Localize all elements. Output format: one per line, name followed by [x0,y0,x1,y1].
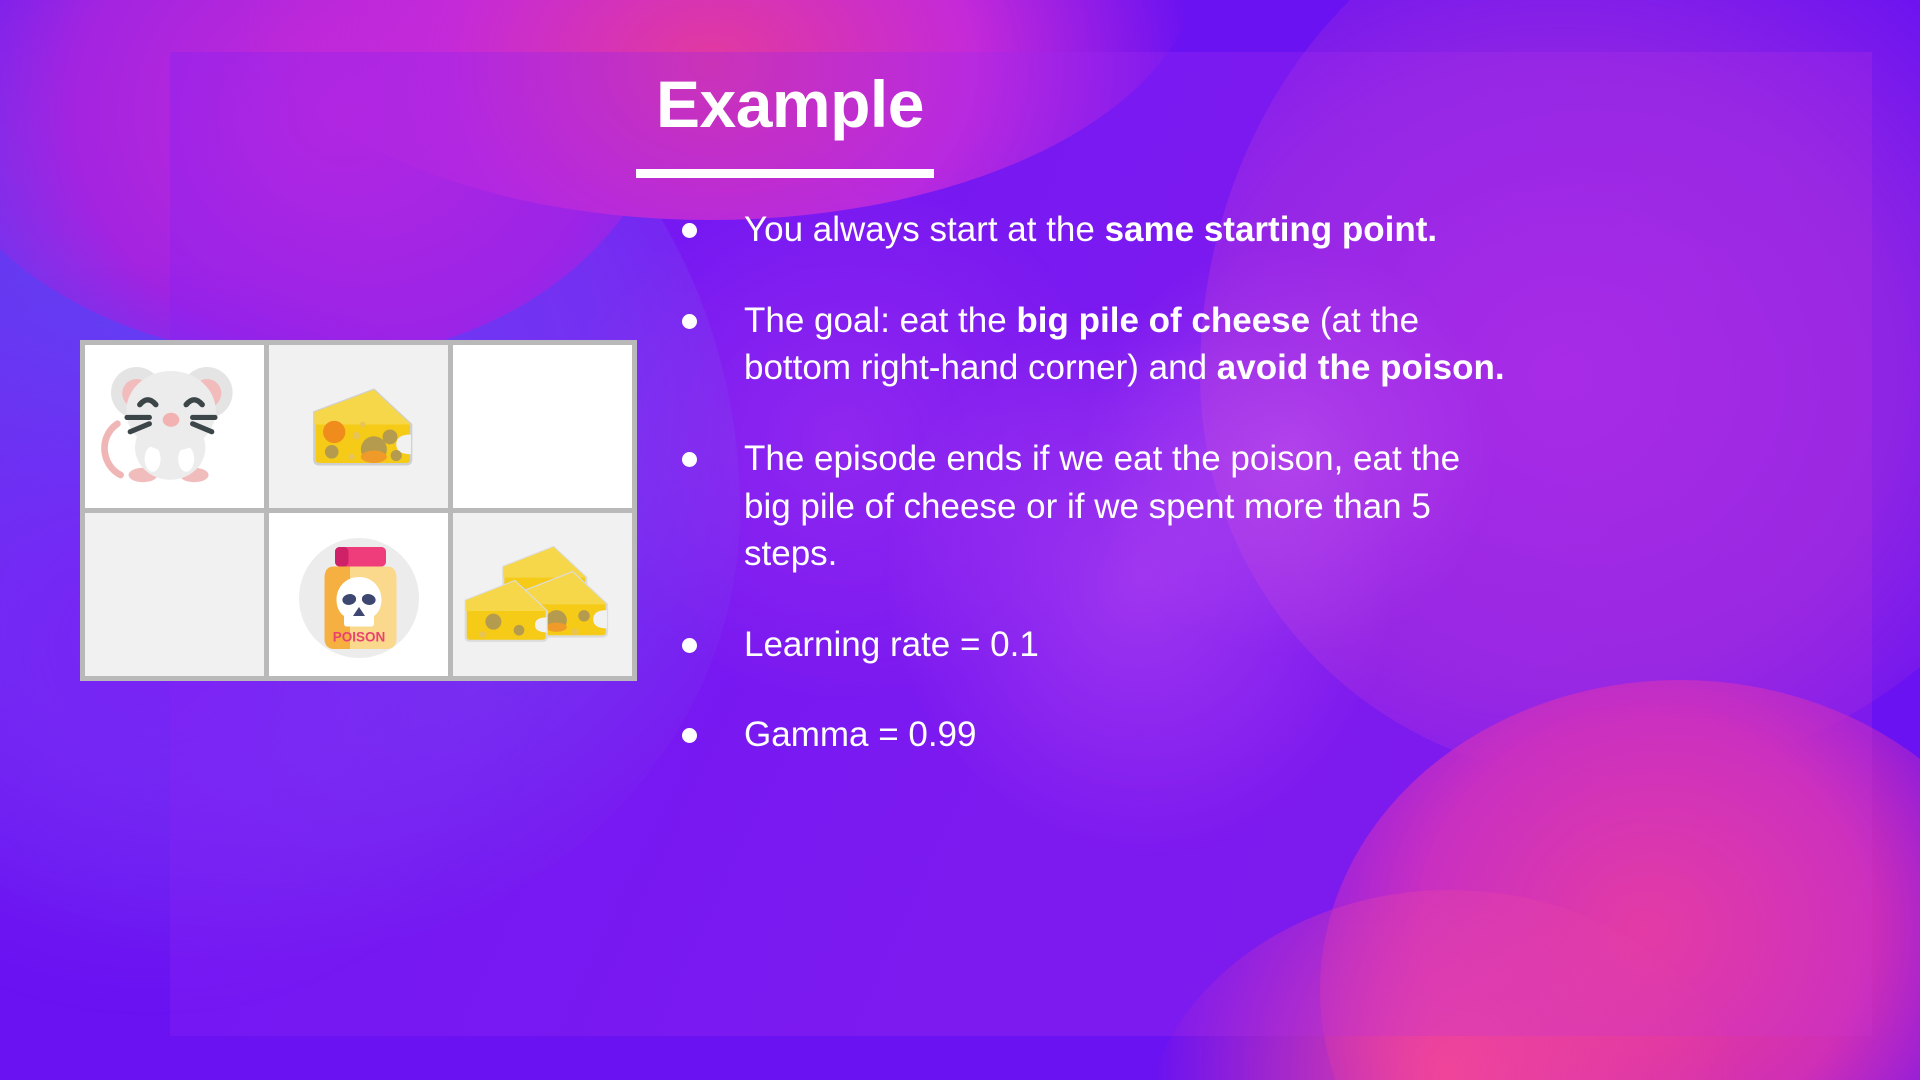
grid-cell-1-2[interactable] [453,513,632,676]
slide-content: Example You always start at the same sta… [636,70,1866,759]
bullet-dot-icon [682,223,697,238]
mouse-icon [95,347,255,507]
bullet-segment: big pile of cheese [1016,301,1310,340]
bullet-text-gamma: Gamma = 0.99 [744,711,976,759]
bullet-list: You always start at the same starting po… [636,206,1866,759]
list-item: Learning rate = 0.1 [682,621,1866,669]
list-item: Gamma = 0.99 [682,711,1866,759]
grid-cell-0-1[interactable] [269,345,448,508]
bullet-dot-icon [682,314,697,329]
grid-cell-1-1[interactable]: POISON [269,513,448,676]
bullet-segment: You always start at the [744,210,1105,249]
bullet-text-learning-rate: Learning rate = 0.1 [744,621,1039,669]
bullet-dot-icon [682,638,697,653]
grid-cell-0-2[interactable] [453,345,632,508]
list-item: The goal: eat the big pile of cheese (at… [682,297,1866,392]
cheese-icon [297,365,421,489]
list-item: You always start at the same starting po… [682,206,1866,254]
list-item: The episode ends if we eat the poison, e… [682,435,1866,578]
poison-jar-icon: POISON [284,520,434,670]
bullet-dot-icon [682,728,697,743]
bullet-dot-icon [682,452,697,467]
bullet-text-goal: The goal: eat the big pile of cheese (at… [744,297,1512,392]
bullet-segment: avoid the poison. [1217,348,1505,387]
poison-jar-label: POISON [332,629,385,644]
bullet-text-episode-end: The episode ends if we eat the poison, e… [744,435,1512,578]
bullet-segment: Gamma = 0.99 [744,715,976,754]
bullet-segment: The goal: eat the [744,301,1016,340]
bullet-text-start-point: You always start at the same starting po… [744,206,1437,254]
grid-cell-0-0[interactable] [85,345,264,508]
page-title: Example [636,70,1866,139]
gridworld-environment: POISON [80,340,637,681]
title-underline-rule [636,169,934,178]
grid-cell-1-0[interactable] [85,513,264,676]
bullet-segment: Learning rate = 0.1 [744,625,1039,664]
bullet-segment: same starting point. [1105,210,1438,249]
cheese-pile-icon [463,525,623,665]
bullet-segment: The episode ends if we eat the poison, e… [744,439,1460,573]
